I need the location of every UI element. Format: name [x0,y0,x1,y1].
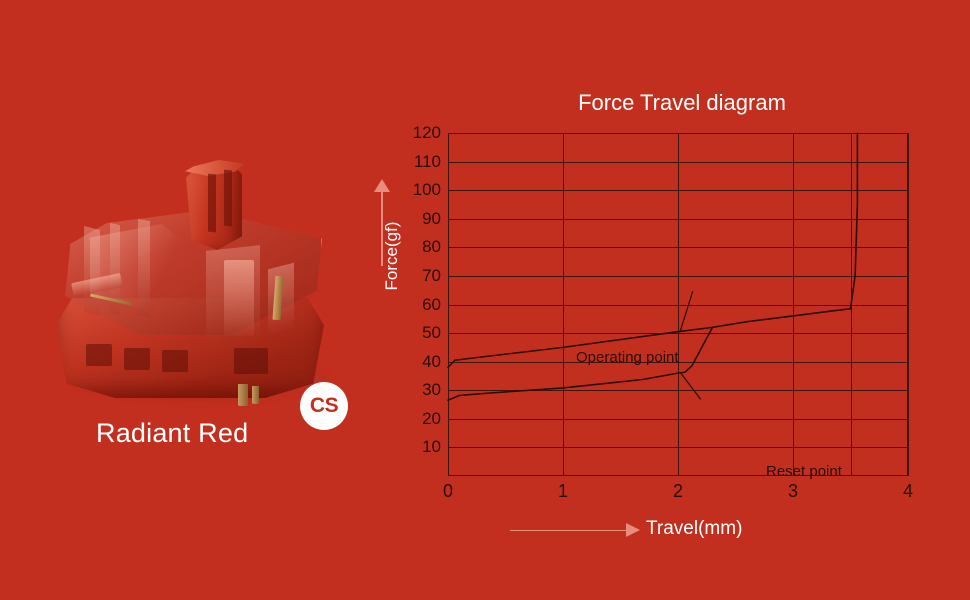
cs-badge: CS [300,382,348,430]
y-tick-label: 50 [422,323,441,343]
x-axis-label-text: Travel(mm) [646,518,742,540]
y-tick-label: 20 [422,409,441,429]
y-axis-arrow-shaft [381,188,383,266]
x-tick-label: 3 [788,481,798,502]
y-tick-label: 110 [414,152,441,172]
y-tick-label: 70 [422,266,441,286]
product-title: Radiant Red [96,418,248,449]
switch-pin-leg [238,384,248,406]
annotation-leader-line [680,291,693,331]
y-tick-label: 90 [422,209,441,229]
force-travel-infographic: Radiant Red CS Force Travel diagram Forc… [0,0,970,600]
plot-area: 102030405060708090100110120 01234 Operat… [448,133,908,476]
switch-stem-slot [208,174,216,233]
switch-base-notch [86,344,112,366]
switch-housing-facet [138,219,150,317]
gridline-vertical [908,133,909,476]
y-tick-label: 80 [422,237,441,257]
chart-panel: Force Travel diagram Force(gf) 102030405… [370,60,970,580]
switch-leaf-clip [224,260,254,336]
y-tick-label: 30 [422,380,441,400]
y-tick-label: 60 [422,295,441,315]
y-axis-arrow-icon [374,179,390,192]
x-tick-label: 0 [443,481,453,502]
x-tick-label: 2 [673,481,683,502]
switch-housing-facet [84,226,100,316]
switch-base-notch [124,348,150,370]
switch-photo [38,148,360,410]
switch-stem-slot [224,170,232,227]
product-panel: Radiant Red CS [0,0,400,600]
y-tick-label: 120 [413,123,441,143]
switch-base-notch [162,350,188,372]
switch-base-notch [234,348,268,374]
annotation-leader-line [680,373,700,400]
chart-title: Force Travel diagram [512,90,852,116]
x-axis-arrow-shaft [510,530,628,531]
force-travel-curves [448,133,908,476]
x-tick-label: 4 [903,481,913,502]
y-tick-label: 100 [413,180,441,200]
cs-badge-label: CS [310,394,338,418]
y-tick-label: 10 [422,437,441,457]
x-axis-arrow-icon [626,523,640,537]
annotation-operating-point: Operating point [576,349,679,366]
y-axis-label-text: Force(gf) [382,198,402,314]
annotation-reset-point: Reset point [766,463,842,480]
switch-pin-leg [252,386,259,404]
y-tick-label: 40 [422,352,441,372]
curve-press [448,133,857,367]
x-tick-label: 1 [558,481,568,502]
